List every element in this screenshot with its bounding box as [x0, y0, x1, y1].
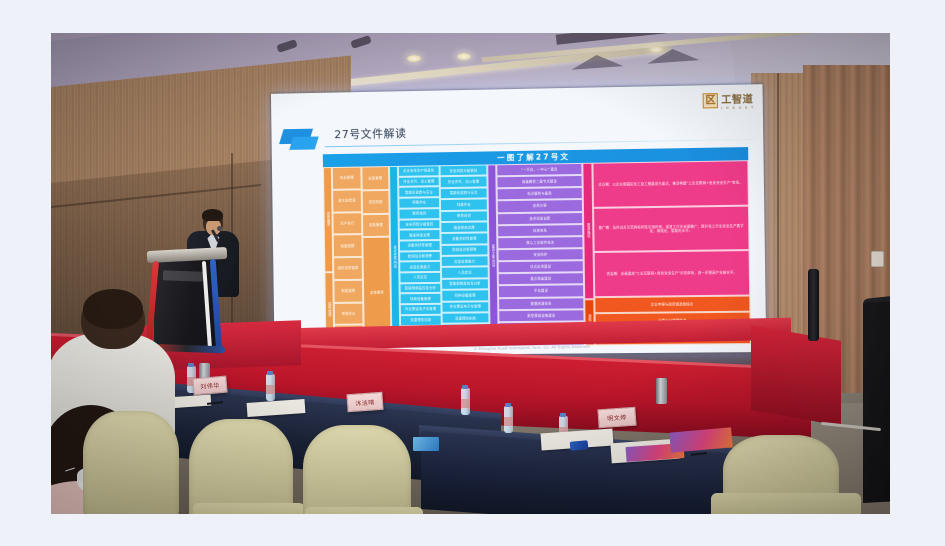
- wall-socket: [871, 251, 884, 267]
- chart-cell: 安全风险分级管控: [440, 164, 488, 176]
- chart-cell: 双重预防机制: [442, 312, 490, 324]
- ceiling-downlight: [457, 53, 471, 60]
- chart-cell: 特殊作业: [398, 197, 440, 208]
- chart-cell: 隐患排查治理: [399, 229, 441, 240]
- chart-cell: 标准体系: [497, 224, 583, 237]
- chart-cell: 检测及诊断预警: [441, 244, 489, 256]
- chart-cell: 安全管理: [332, 167, 362, 190]
- chart-cell: 制度保障: [333, 280, 363, 303]
- chart-cell: 试点期：以企业和园区化工及工程建设为重点，推动构建"工业互联网+危化安全生产"体…: [592, 160, 749, 207]
- chart-cell: 组织领导保障: [333, 257, 363, 280]
- conference-room-photograph: 区 工智道 I N D U S T 27号文件解读 一图了解27号文 总体要求: [51, 33, 890, 514]
- presenter-hair: [202, 209, 223, 221]
- chart-cell: 教育培训: [440, 210, 488, 222]
- microphone-stand: [808, 269, 819, 341]
- chart-cell: 应急处置能力: [399, 261, 441, 272]
- chart-cell: 特殊作业: [440, 199, 488, 211]
- printed-brochure: [413, 437, 439, 451]
- chart-cell: 重大危险源: [332, 189, 362, 212]
- chart-cell: 试点应用建设: [498, 260, 584, 273]
- slide-title-row: 27号文件解读: [279, 115, 753, 151]
- chart-cell: 应急管理: [361, 166, 389, 190]
- water-bottle: [461, 388, 470, 415]
- banquet-chair-seat[interactable]: [305, 507, 423, 514]
- chart-cell: 新型基础设施建设: [498, 309, 584, 322]
- slide-title: 27号文件解读: [334, 125, 406, 142]
- chart-column-0b: 应急管理 双控机制 巡检管理 总体要求: [361, 166, 391, 347]
- nameplate: 沐洁晴: [346, 392, 383, 412]
- bottle-cap: [267, 371, 273, 375]
- banquet-chair-seat[interactable]: [193, 503, 305, 514]
- chart-cell: 应急处置能力: [441, 255, 489, 267]
- chart-cell: 生产执行: [332, 212, 362, 235]
- chart-cell: 核心工业软件攻关: [497, 236, 583, 249]
- chart-cell: 智能视频监控及分析: [441, 278, 489, 290]
- chart-cell: 巡检管理: [362, 213, 390, 237]
- infographic-chart: 一图了解27号文 总体要求 保障措施 安全管理 重大危险源 生产执行 制度保障 …: [323, 147, 751, 348]
- chart-cell: 特种设备管理: [400, 293, 442, 304]
- chart-cell: 检测及诊断预警: [399, 251, 441, 262]
- chart-column-0: 安全管理 重大危险源 生产执行 制度保障 组织领导保障 制度保障 考核评价 安全…: [332, 167, 364, 348]
- chart-cell: 完善期：全面建成"工业互联网+危化安全生产"示范体系，进一步提高产业链水平。: [594, 250, 751, 297]
- chart-cell: 制度保障: [333, 234, 363, 257]
- microphone-head-icon: [217, 226, 222, 231]
- chart-cell: 作业许可、动火管理: [440, 176, 488, 188]
- banquet-chair-seat[interactable]: [711, 493, 861, 514]
- chart-cell: 智能视频监控及分析: [400, 283, 442, 294]
- chart-cell: 平台建设: [498, 285, 584, 298]
- chart-cell: 隐患排查治理: [440, 221, 488, 233]
- banquet-chair[interactable]: [189, 419, 293, 514]
- smartphone: [570, 440, 589, 451]
- logo-wordmark-text: 工智道: [721, 94, 753, 106]
- chart-cell: 人员定位: [399, 272, 441, 283]
- bottle-cap: [188, 363, 194, 367]
- chart-column-3: 试点期：以企业和园区化工及工程建设为重点，推动构建"工业互联网+危化安全生产"体…: [592, 160, 750, 345]
- chart-column-1b: 安全风险分级管控 作业许可、动火管理 智能化巡检与五位 特殊作业 教育培训 隐患…: [440, 164, 490, 346]
- chart-cell: 双控机制: [362, 190, 390, 214]
- water-bottle: [266, 374, 275, 401]
- logo-wordmark: 工智道 I N D U S T: [721, 90, 755, 110]
- chart-cell: 人员定位: [441, 267, 489, 279]
- chart-cell: 企业申报与政府遴选相结合: [594, 295, 750, 313]
- thermos-flask: [656, 378, 667, 404]
- chart-column-2: "一平台、一中心" 建设 省级解析二级节点建设 标识解析与服务 应用方案 技术研…: [496, 163, 585, 346]
- logo-subtext: I N D U S T: [721, 106, 754, 111]
- stage-right-return: [751, 325, 841, 426]
- pa-speaker: [863, 299, 890, 503]
- chart-cell: 企业安全生产信息化: [398, 165, 440, 176]
- bottle-cap: [560, 413, 566, 417]
- podium-logo-plate: [163, 270, 203, 281]
- chart-cell: 重点场景建设: [498, 272, 584, 285]
- chart-cell: 设备完好性管理: [399, 240, 441, 251]
- chart-cell: 数据资源体系: [498, 297, 584, 310]
- attendee-hair: [83, 289, 143, 329]
- nameplate: 刘伟华: [192, 376, 227, 396]
- chart-cell: 教育培训: [398, 208, 440, 219]
- chart-cell: 安全防护: [497, 248, 583, 261]
- chart-cell: 作业许可、动火管理: [398, 176, 440, 187]
- nameplate: 明文婷: [597, 407, 636, 429]
- logo-mark-icon: 区: [703, 93, 718, 108]
- chart-column-1: 企业安全生产信息化 作业许可、动火管理 智能化巡检与五位 特殊作业 教育培训 安…: [398, 165, 442, 347]
- chart-cell: 作业票证电子化管理: [441, 301, 489, 313]
- chart-cell: 安全风险分级管控: [399, 219, 441, 230]
- chart-cell: 智能化巡检与五位: [440, 187, 488, 199]
- banquet-chair[interactable]: [303, 425, 411, 514]
- bottle-cap: [505, 403, 511, 407]
- title-accent-shape-front: [289, 136, 318, 149]
- led-presentation-screen: 区 工智道 I N D U S T 27号文件解读 一图了解27号文 总体要求: [271, 84, 766, 356]
- brand-logo: 区 工智道 I N D U S T: [703, 90, 755, 110]
- bottle-cap: [462, 385, 468, 389]
- chart-cell: 双重预防机制: [400, 315, 442, 326]
- chart-cell: 特种设备管理: [441, 289, 489, 301]
- chart-cell: 智能化巡检与五位: [398, 187, 440, 198]
- screenshot-frame: 区 工智道 I N D U S T 27号文件解读 一图了解27号文 总体要求: [0, 0, 945, 546]
- water-bottle: [504, 406, 513, 433]
- chart-cell: 作业票证电子化管理: [400, 304, 442, 315]
- chart-cell: 考核评价: [334, 302, 364, 325]
- chart-cell: 推广期：及时试点示范的标杆性引领作用，促进工行业全面推广，提升化工行业安全生产数…: [593, 205, 750, 252]
- chart-cell: 设备完好性管理: [440, 233, 488, 245]
- ceiling-downlight: [407, 55, 421, 62]
- banquet-chair[interactable]: [83, 411, 179, 514]
